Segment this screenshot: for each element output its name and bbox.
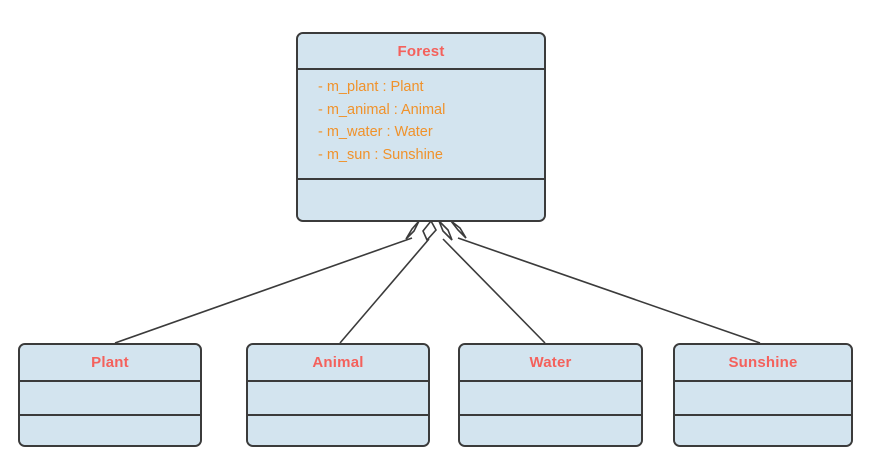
attribute-row: - m_sun : Sunshine bbox=[318, 144, 544, 167]
class-name-compartment-plant: Plant bbox=[20, 345, 200, 380]
class-operations-compartment-sunshine bbox=[675, 414, 851, 447]
class-attributes-compartment-animal bbox=[248, 380, 428, 414]
class-box-plant[interactable]: Plant bbox=[18, 343, 202, 447]
aggregation-diamond-sunshine bbox=[451, 221, 466, 238]
class-operations-compartment-forest bbox=[298, 178, 544, 221]
attribute-row: - m_water : Water bbox=[318, 121, 544, 144]
class-attributes-compartment-sunshine bbox=[675, 380, 851, 414]
class-name-compartment-sunshine: Sunshine bbox=[675, 345, 851, 380]
class-box-sunshine[interactable]: Sunshine bbox=[673, 343, 853, 447]
aggregation-diamond-water bbox=[439, 221, 452, 240]
class-name-compartment-animal: Animal bbox=[248, 345, 428, 380]
aggregation-diamond-animal bbox=[423, 221, 436, 240]
class-name-compartment-water: Water bbox=[460, 345, 641, 380]
aggregation-diamond-plant bbox=[406, 221, 419, 239]
class-operations-compartment-plant bbox=[20, 414, 200, 447]
attribute-row: - m_plant : Plant bbox=[318, 76, 544, 99]
class-attributes-compartment-water bbox=[460, 380, 641, 414]
class-attributes-compartment-forest: - m_plant : Plant - m_animal : Animal - … bbox=[298, 68, 544, 178]
class-box-animal[interactable]: Animal bbox=[246, 343, 430, 447]
uml-diagram-canvas: Forest - m_plant : Plant - m_animal : An… bbox=[0, 0, 888, 468]
class-box-forest[interactable]: Forest - m_plant : Plant - m_animal : An… bbox=[296, 32, 546, 222]
class-operations-compartment-water bbox=[460, 414, 641, 447]
class-attributes-compartment-plant bbox=[20, 380, 200, 414]
class-operations-compartment-animal bbox=[248, 414, 428, 447]
class-box-water[interactable]: Water bbox=[458, 343, 643, 447]
attribute-row: - m_animal : Animal bbox=[318, 99, 544, 122]
link-forest-plant bbox=[115, 238, 412, 343]
link-forest-sunshine bbox=[458, 238, 760, 343]
class-title-sunshine: Sunshine bbox=[728, 355, 797, 370]
class-title-plant: Plant bbox=[91, 355, 129, 370]
link-forest-water bbox=[443, 239, 545, 343]
class-title-forest: Forest bbox=[397, 44, 444, 59]
class-title-water: Water bbox=[529, 355, 571, 370]
link-forest-animal bbox=[340, 239, 429, 343]
class-title-animal: Animal bbox=[312, 355, 363, 370]
class-name-compartment-forest: Forest bbox=[298, 34, 544, 68]
